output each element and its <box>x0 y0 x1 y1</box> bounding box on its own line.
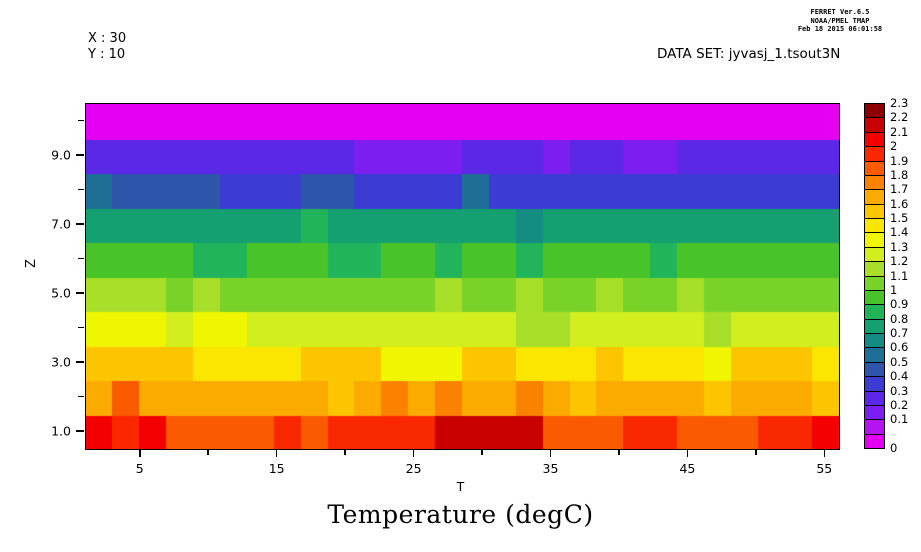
y-annotation: Y : 10 <box>88 47 126 63</box>
colorbar-tick-label: 1.4 <box>890 225 908 239</box>
y-tick-major <box>76 154 84 156</box>
ferret-version-line: FERRET Ver.6.5 <box>760 8 920 17</box>
x-tick-major <box>550 449 552 457</box>
xy-annotation: X : 30 Y : 10 <box>88 31 126 63</box>
colorbar-tick-label: 2.3 <box>890 96 908 110</box>
colorbar-legend: 2.32.22.121.91.81.71.61.51.41.31.21.110.… <box>864 103 885 448</box>
ferret-version-stamp: FERRET Ver.6.5 NOAA/PMEL TMAP Feb 18 201… <box>760 8 920 34</box>
colorbar-swatch <box>864 333 885 348</box>
colorbar-tick-label: 0.7 <box>890 326 908 340</box>
y-tick-minor <box>78 258 84 260</box>
colorbar-swatch <box>864 376 885 391</box>
colorbar-swatch <box>864 319 885 334</box>
ferret-plot-window: FERRET Ver.6.5 NOAA/PMEL TMAP Feb 18 201… <box>0 0 921 552</box>
colorbar-swatch <box>864 247 885 262</box>
x-tick-label: 45 <box>679 461 695 476</box>
y-tick-label: 3.0 <box>27 354 71 369</box>
y-tick-minor <box>78 120 84 122</box>
colorbar-tick-label: 0.6 <box>890 340 908 354</box>
colorbar-tick-label: 0.4 <box>890 369 908 383</box>
y-tick-label: 5.0 <box>27 285 71 300</box>
y-tick-major <box>76 361 84 363</box>
plot-frame <box>85 103 840 450</box>
y-axis-title: Z <box>24 259 39 268</box>
colorbar-tick-label: 1.7 <box>890 182 908 196</box>
colorbar-tick-label: 1.6 <box>890 197 908 211</box>
colorbar-swatch <box>864 261 885 276</box>
x-tick-minor <box>618 449 620 455</box>
colorbar-swatch <box>864 161 885 176</box>
colorbar-tick-label: 1.9 <box>890 154 908 168</box>
colorbar-swatch <box>864 304 885 319</box>
colorbar-tick-label: 2 <box>890 139 897 153</box>
x-tick-major <box>687 449 689 457</box>
x-tick-major <box>139 449 141 457</box>
x-tick-major <box>413 449 415 457</box>
colorbar-tick-label: 0.1 <box>890 412 908 426</box>
x-tick-minor <box>207 449 209 455</box>
y-tick-label: 7.0 <box>27 216 71 231</box>
x-tick-label: 5 <box>136 461 144 476</box>
colorbar-swatch <box>864 189 885 204</box>
y-tick-minor <box>78 189 84 191</box>
colorbar-swatch <box>864 419 885 434</box>
x-annotation: X : 30 <box>88 31 126 47</box>
colorbar-swatch <box>864 204 885 219</box>
colorbar-swatch <box>864 232 885 247</box>
x-tick-minor <box>481 449 483 455</box>
colorbar-swatch <box>864 103 885 118</box>
colorbar-tick-label: 1.5 <box>890 211 908 225</box>
x-axis-title: T <box>0 479 921 494</box>
colorbar-tick-label: 0 <box>890 441 897 455</box>
ferret-organization-line: NOAA/PMEL TMAP <box>760 17 920 26</box>
ferret-timestamp-line: Feb 18 2015 06:01:58 <box>760 25 920 34</box>
x-tick-minor <box>344 449 346 455</box>
colorbar-swatch <box>864 117 885 132</box>
x-tick-label: 55 <box>816 461 832 476</box>
colorbar-swatch <box>864 391 885 406</box>
colorbar-tick-label: 1.8 <box>890 168 908 182</box>
colorbar-tick-label: 2.2 <box>890 110 908 124</box>
y-tick-major <box>76 223 84 225</box>
x-tick-label: 35 <box>543 461 559 476</box>
y-tick-label: 1.0 <box>27 423 71 438</box>
colorbar-swatch <box>864 276 885 291</box>
x-tick-minor <box>755 449 757 455</box>
y-tick-label: 9.0 <box>27 147 71 162</box>
y-tick-minor <box>78 396 84 398</box>
colorbar-swatch <box>864 347 885 362</box>
colorbar-swatch <box>864 290 885 305</box>
y-tick-major <box>76 292 84 294</box>
x-tick-major <box>276 449 278 457</box>
heatmap-canvas <box>86 104 839 449</box>
colorbar-tick-label: 1.2 <box>890 254 908 268</box>
colorbar-tick-label: 0.3 <box>890 384 908 398</box>
colorbar-swatch <box>864 146 885 161</box>
page-title: Temperature (degC) <box>0 500 921 529</box>
x-tick-label: 15 <box>269 461 285 476</box>
y-tick-major <box>76 430 84 432</box>
colorbar-swatch <box>864 362 885 377</box>
colorbar-swatch <box>864 175 885 190</box>
colorbar-tick-label: 1.3 <box>890 240 908 254</box>
colorbar-tick-label: 0.2 <box>890 398 908 412</box>
dataset-label: DATA SET: jyvasj_1.tsout3N <box>657 46 840 62</box>
colorbar-swatch <box>864 132 885 147</box>
colorbar-tick-label: 1.1 <box>890 269 908 283</box>
colorbar-tick-label: 0.8 <box>890 312 908 326</box>
y-tick-minor <box>78 327 84 329</box>
colorbar-tick-label: 0.5 <box>890 355 908 369</box>
colorbar-tick-label: 2.1 <box>890 125 908 139</box>
colorbar-swatch <box>864 434 885 449</box>
colorbar-swatch <box>864 218 885 233</box>
x-tick-label: 25 <box>406 461 422 476</box>
x-tick-major <box>824 449 826 457</box>
colorbar-swatch <box>864 405 885 420</box>
colorbar-tick-label: 1 <box>890 283 897 297</box>
colorbar-tick-label: 0.9 <box>890 297 908 311</box>
